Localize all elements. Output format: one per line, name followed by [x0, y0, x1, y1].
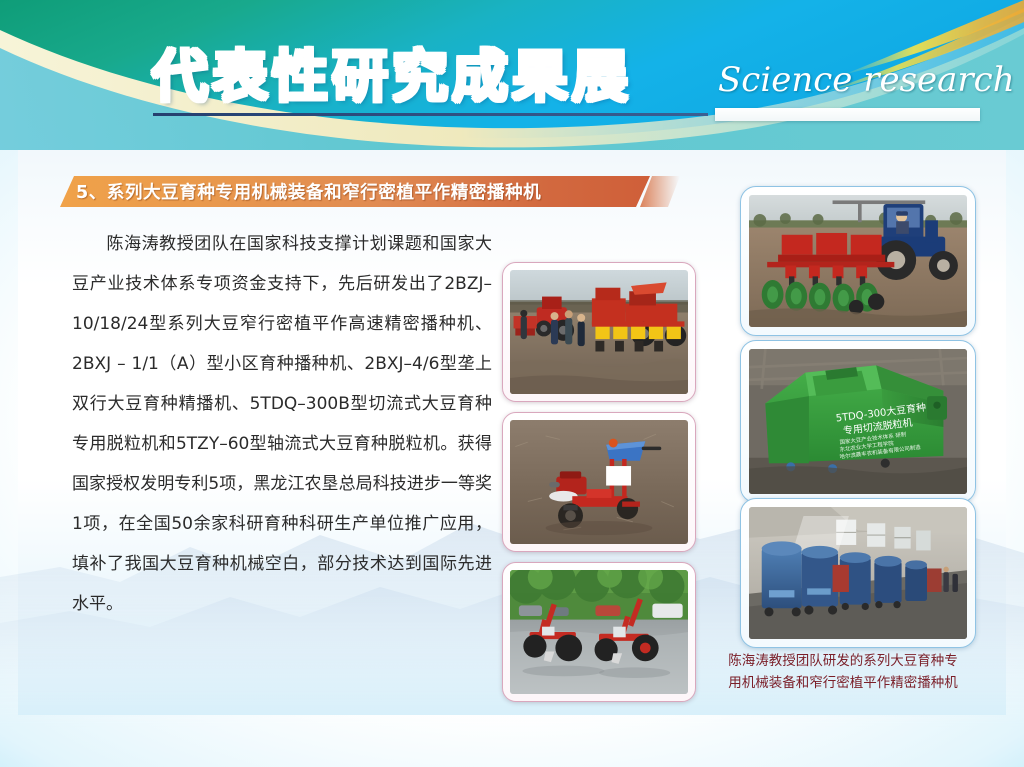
- photo-field-demonstration-red-tractors: [502, 262, 696, 402]
- photo-two-row-ridge-seeder: [502, 562, 696, 702]
- page-title: 代表性研究成果展: [152, 32, 632, 113]
- section-banner-label: 5、系列大豆育种专用机械装备和窄行密植平作精密播种机: [76, 179, 541, 204]
- photo-green-thresher-5tdq300: 5TDQ-300大豆育种 专用切流脱粒机 国家大豆产业技术体系 研制 东北农业大…: [740, 340, 976, 503]
- page-title-english: Science research: [718, 60, 1015, 100]
- photo-hand-push-plot-seeder: [502, 412, 696, 552]
- header-band: 代表性研究成果展 Science research: [0, 0, 1024, 150]
- poster-page: 代表性研究成果展 Science research 5、系列大豆育种专用机械装备…: [0, 0, 1024, 767]
- section-banner: 5、系列大豆育种专用机械装备和窄行密植平作精密播种机: [60, 176, 650, 207]
- photo-tractor-mounted-precision-seeder: [740, 186, 976, 336]
- caption-line-2: 用机械装备和窄行密植平作精密播种机: [712, 672, 974, 694]
- title-underline-left: [153, 113, 708, 116]
- paragraph-text: 陈海涛教授团队在国家科技支撑计划课题和国家大豆产业技术体系专项资金支持下，先后研…: [72, 234, 492, 614]
- body-paragraph: 陈海涛教授团队在国家科技支撑计划课题和国家大豆产业技术体系专项资金支持下，先后研…: [72, 224, 492, 624]
- title-underline-right: [715, 108, 980, 121]
- photo-blue-threshers-workshop: [740, 498, 976, 648]
- caption-line-1: 陈海涛教授团队研发的系列大豆育种专: [712, 650, 974, 672]
- photo-caption: 陈海涛教授团队研发的系列大豆育种专 用机械装备和窄行密植平作精密播种机: [712, 650, 974, 694]
